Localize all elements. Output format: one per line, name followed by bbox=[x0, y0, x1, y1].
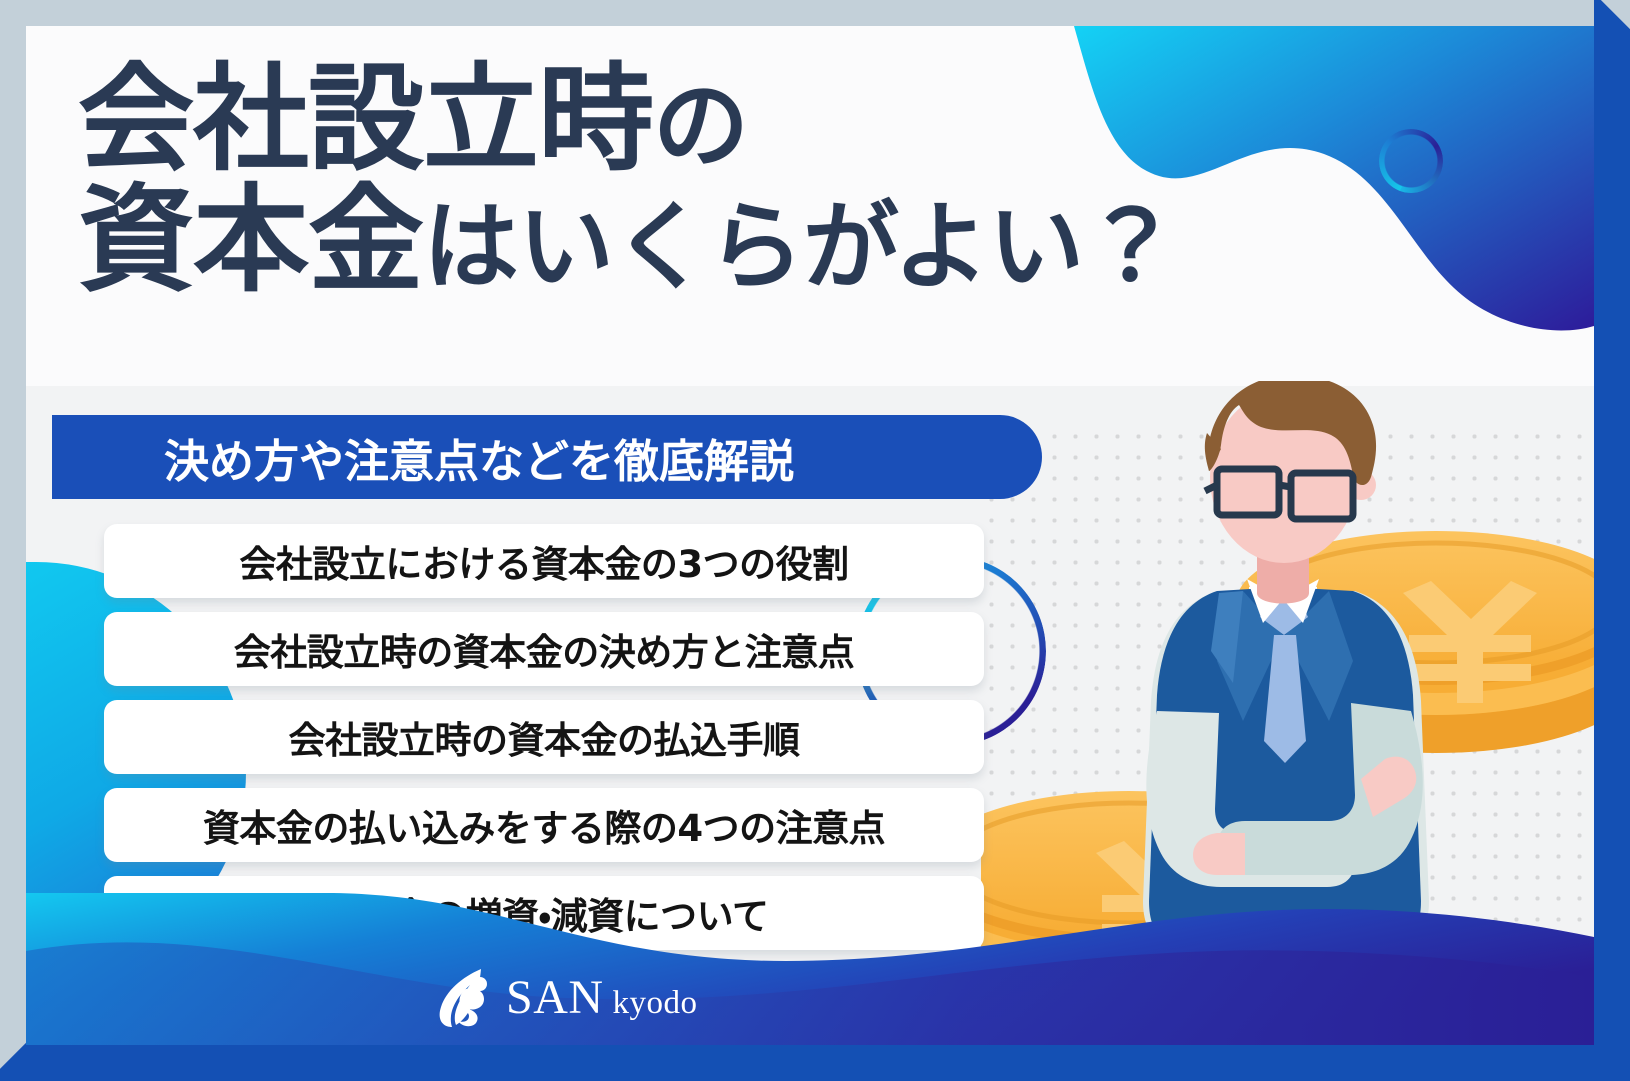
title-line-2-suffix: はいくらがよい？ bbox=[423, 191, 1178, 303]
title-line-2-main: 資本金 bbox=[78, 173, 423, 308]
leaf-swoosh-mark-icon bbox=[436, 967, 492, 1029]
brand-name: SAN bbox=[506, 971, 604, 1024]
list-item[interactable]: 資本金の払い込みをする際の4つの注意点 bbox=[104, 788, 984, 862]
list-item[interactable]: 会社設立における資本金の3つの役割 bbox=[104, 524, 984, 598]
title-line-1: 会社設立時の bbox=[78, 60, 1498, 181]
brand-logo-text: SANkyodo bbox=[506, 974, 698, 1022]
list-item-label: 資本金の払い込みをする際の4つの注意点 bbox=[203, 798, 885, 852]
subtitle-band: 決め方や注意点などを徹底解説 bbox=[52, 415, 1042, 499]
title-line-1-main: 会社設立時 bbox=[78, 52, 653, 187]
poster-root: 会社設立時の 資本金はいくらがよい？ 決め方や注意点などを徹底解説 会社設立にお… bbox=[0, 0, 1630, 1081]
list-item[interactable]: 会社設立時の資本金の決め方と注意点 bbox=[104, 612, 984, 686]
brand-suffix: kyodo bbox=[613, 985, 698, 1021]
subtitle-text: 決め方や注意点などを徹底解説 bbox=[164, 425, 794, 490]
footer-wave-band bbox=[26, 865, 1594, 1045]
brand-logo[interactable]: SANkyodo bbox=[436, 967, 698, 1029]
poster-card: 会社設立時の 資本金はいくらがよい？ 決め方や注意点などを徹底解説 会社設立にお… bbox=[26, 26, 1594, 1045]
list-item[interactable]: 会社設立時の資本金の払込手順 bbox=[104, 700, 984, 774]
title-line-2: 資本金はいくらがよい？ bbox=[78, 181, 1498, 302]
title-line-1-suffix: の bbox=[653, 70, 748, 182]
frame-bevel-top bbox=[1594, 0, 1630, 36]
list-item-label: 会社設立時の資本金の払込手順 bbox=[289, 710, 800, 764]
list-item-label: 会社設立時の資本金の決め方と注意点 bbox=[234, 622, 855, 676]
page-title: 会社設立時の 資本金はいくらがよい？ bbox=[78, 60, 1498, 301]
list-item-label: 会社設立における資本金の3つの役割 bbox=[239, 534, 848, 588]
